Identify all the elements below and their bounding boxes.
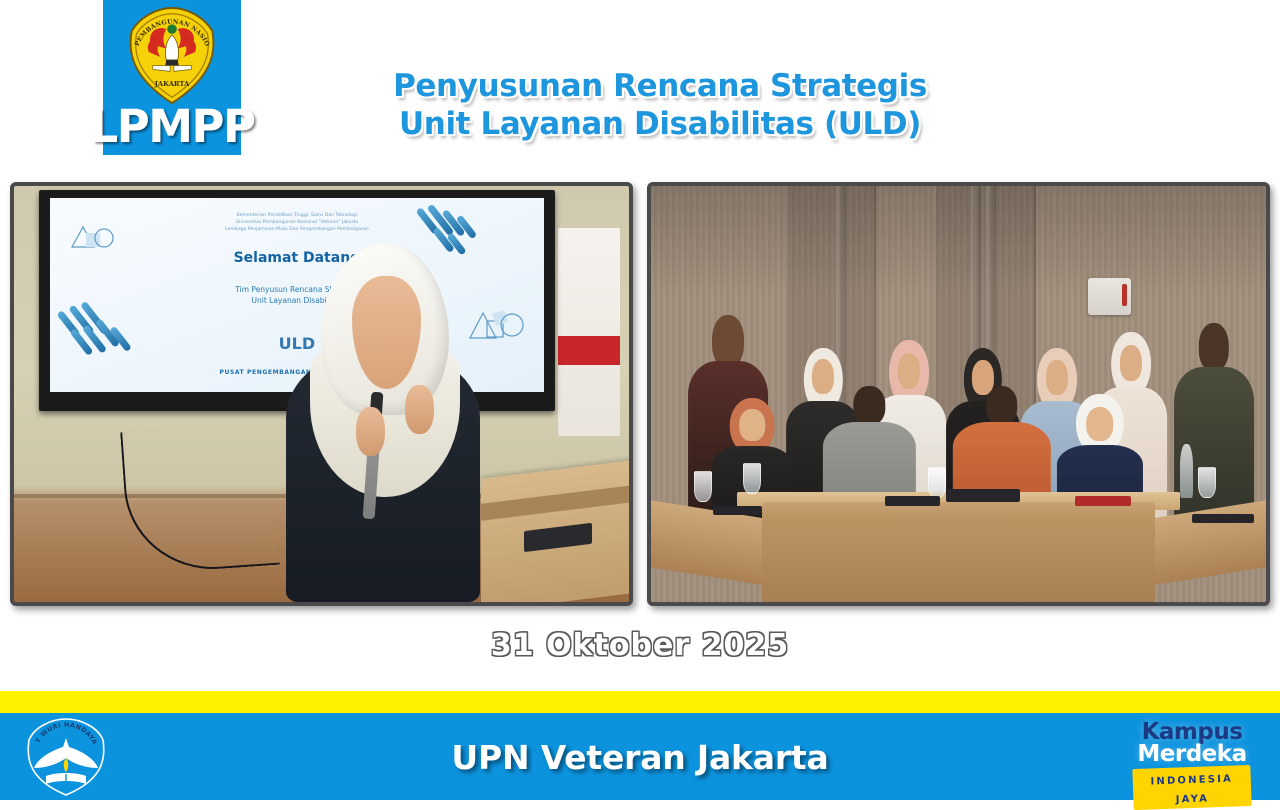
desk-document-2	[885, 496, 940, 506]
title-line-1: Penyusunan Rencana Strategis	[310, 68, 1010, 106]
speaker-hand-left	[356, 407, 385, 456]
head	[986, 386, 1017, 425]
svg-text:JAKARTA: JAKARTA	[154, 80, 190, 88]
drinking-glass-2	[743, 463, 761, 494]
desk-document-5	[1192, 514, 1254, 523]
group-photo	[647, 182, 1270, 606]
head	[898, 353, 920, 390]
speaker-presentation-photo: Kementerian Pendidikan Tinggi, Sains Dan…	[10, 182, 633, 606]
title-line-2: Unit Layanan Disabilitas (ULD)	[310, 106, 1010, 144]
event-date: 31 Oktober 2025	[0, 628, 1280, 663]
desk-document-4	[1075, 496, 1130, 506]
wall-speaker-unit	[1088, 278, 1131, 315]
footer-yellow-strip	[0, 691, 1280, 713]
kampus-merdeka-line-2: Merdeka	[1126, 744, 1258, 766]
water-bottle	[1180, 444, 1194, 498]
kampus-merdeka-ribbon: INDONESIA JAYA	[1132, 765, 1251, 810]
speaker-figure	[272, 228, 493, 602]
page-title: Penyusunan Rencana Strategis Unit Layana…	[310, 68, 1010, 144]
head	[1086, 407, 1114, 441]
head	[712, 315, 744, 367]
head	[1199, 323, 1229, 371]
upn-veteran-crest-icon: JAKARTA UNIVERSITAS PEMBANGUNAN NASIONAL…	[124, 6, 220, 106]
photo-gallery: Kementerian Pendidikan Tinggi, Sains Dan…	[10, 182, 1270, 606]
head	[1120, 345, 1142, 381]
head	[740, 409, 766, 441]
head	[854, 386, 885, 425]
desk-document-3	[946, 489, 1020, 502]
drinking-glass-3	[928, 467, 946, 498]
roll-up-banner	[558, 228, 620, 436]
speaker-hand-right	[405, 385, 434, 434]
roll-up-banner-accent	[558, 336, 620, 365]
lpmpp-wordmark: LPMPP	[90, 104, 255, 149]
drinking-glass-4	[1198, 467, 1216, 498]
kampus-merdeka-logo: Kampus Merdeka INDONESIA JAYA	[1126, 722, 1258, 792]
drinking-glass-1	[694, 471, 712, 502]
desk-document-1	[713, 506, 762, 514]
conference-table-front	[762, 502, 1156, 602]
lpmpp-logo-block: JAKARTA UNIVERSITAS PEMBANGUNAN NASIONAL…	[103, 0, 241, 155]
kampus-merdeka-ribbon-text: INDONESIA JAYA	[1150, 773, 1233, 805]
footer-institution-title: UPN Veteran Jakarta	[0, 738, 1280, 777]
